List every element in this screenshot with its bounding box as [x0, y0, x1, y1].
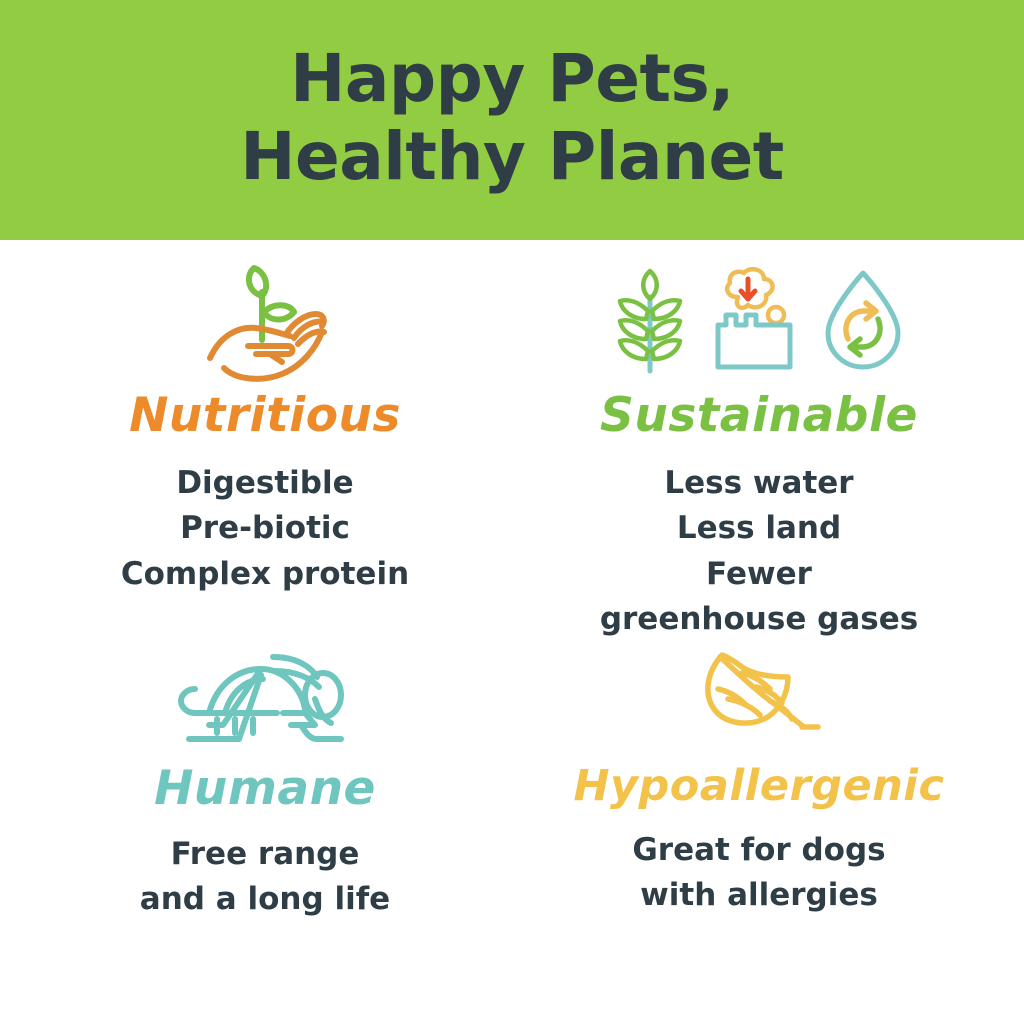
feature-heading-humane: Humane [154, 765, 376, 812]
factory-emissions-icon [704, 267, 804, 377]
hand-holding-sprout-icon [190, 262, 340, 382]
feature-lines-sustainable: Less water Less land Fewer greenhouse ga… [600, 461, 918, 643]
humane-icon-group [165, 643, 365, 755]
feature-lines-humane: Free range and a long life [140, 832, 390, 923]
feature-heading-nutritious: Nutritious [129, 392, 401, 439]
cricket-icon [165, 643, 365, 755]
wheat-stalk-icon [610, 267, 690, 377]
nutritious-icon-group [190, 262, 340, 382]
feature-line: and a long life [140, 877, 390, 923]
feature-line: Free range [140, 832, 390, 878]
feature-lines-nutritious: Digestible Pre-biotic Complex protein [121, 461, 409, 598]
feature-sustainable: Sustainable Less water Less land Fewer g… [512, 262, 1006, 643]
feature-line: Digestible [121, 461, 409, 507]
feature-nutritious: Nutritious Digestible Pre-biotic Complex… [18, 262, 512, 643]
infographic-page: Happy Pets, Healthy Planet [0, 0, 1024, 1024]
feature-lines-hypoallergenic: Great for dogs with allergies [632, 828, 885, 919]
feature-line: with allergies [632, 873, 885, 919]
feature-humane: Humane Free range and a long life [18, 643, 512, 1024]
header-band: Happy Pets, Healthy Planet [0, 0, 1024, 240]
water-recycle-droplet-icon [818, 267, 908, 377]
feature-line: Fewer [600, 552, 918, 598]
hypoallergenic-icon-group [684, 643, 834, 755]
feather-icon [684, 643, 834, 755]
feature-line: Great for dogs [632, 828, 885, 874]
feature-line: Less water [600, 461, 918, 507]
feature-line: Pre-biotic [121, 506, 409, 552]
sustainable-icon-group [610, 262, 908, 382]
feature-heading-hypoallergenic: Hypoallergenic [574, 765, 945, 808]
feature-hypoallergenic: Hypoallergenic Great for dogs with aller… [512, 643, 1006, 1024]
feature-line: greenhouse gases [600, 597, 918, 643]
page-title: Happy Pets, Healthy Planet [240, 40, 784, 196]
feature-line: Complex protein [121, 552, 409, 598]
feature-heading-sustainable: Sustainable [600, 392, 918, 439]
feature-grid: Nutritious Digestible Pre-biotic Complex… [0, 240, 1024, 1024]
feature-line: Less land [600, 506, 918, 552]
